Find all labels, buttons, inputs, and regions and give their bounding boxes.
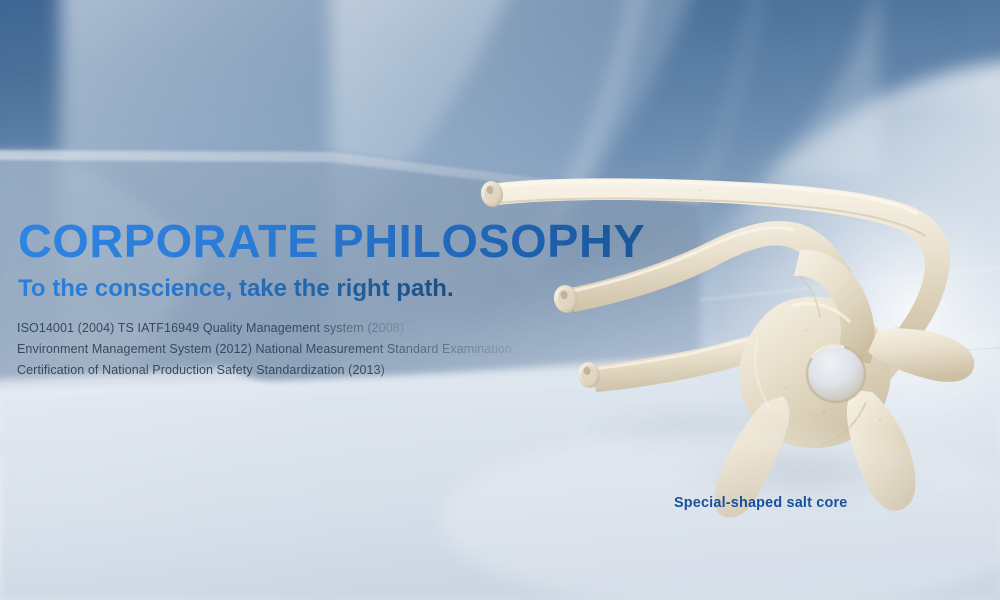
- certification-list: ISO14001 (2004) TS IATF16949 Quality Man…: [17, 318, 717, 381]
- page-title: CORPORATE PHILOSOPHY: [18, 218, 645, 264]
- page-subtitle: To the conscience, take the right path.: [18, 276, 454, 302]
- certification-line: Environment Management System (2012) Nat…: [17, 339, 717, 360]
- banner-text-layer: CORPORATE PHILOSOPHY To the conscience, …: [0, 0, 1000, 600]
- certification-line: Certification of National Production Saf…: [17, 360, 717, 381]
- product-caption: Special-shaped salt core: [674, 494, 847, 511]
- corporate-philosophy-banner: CORPORATE PHILOSOPHY To the conscience, …: [0, 0, 1000, 600]
- certification-line: ISO14001 (2004) TS IATF16949 Quality Man…: [17, 318, 717, 339]
